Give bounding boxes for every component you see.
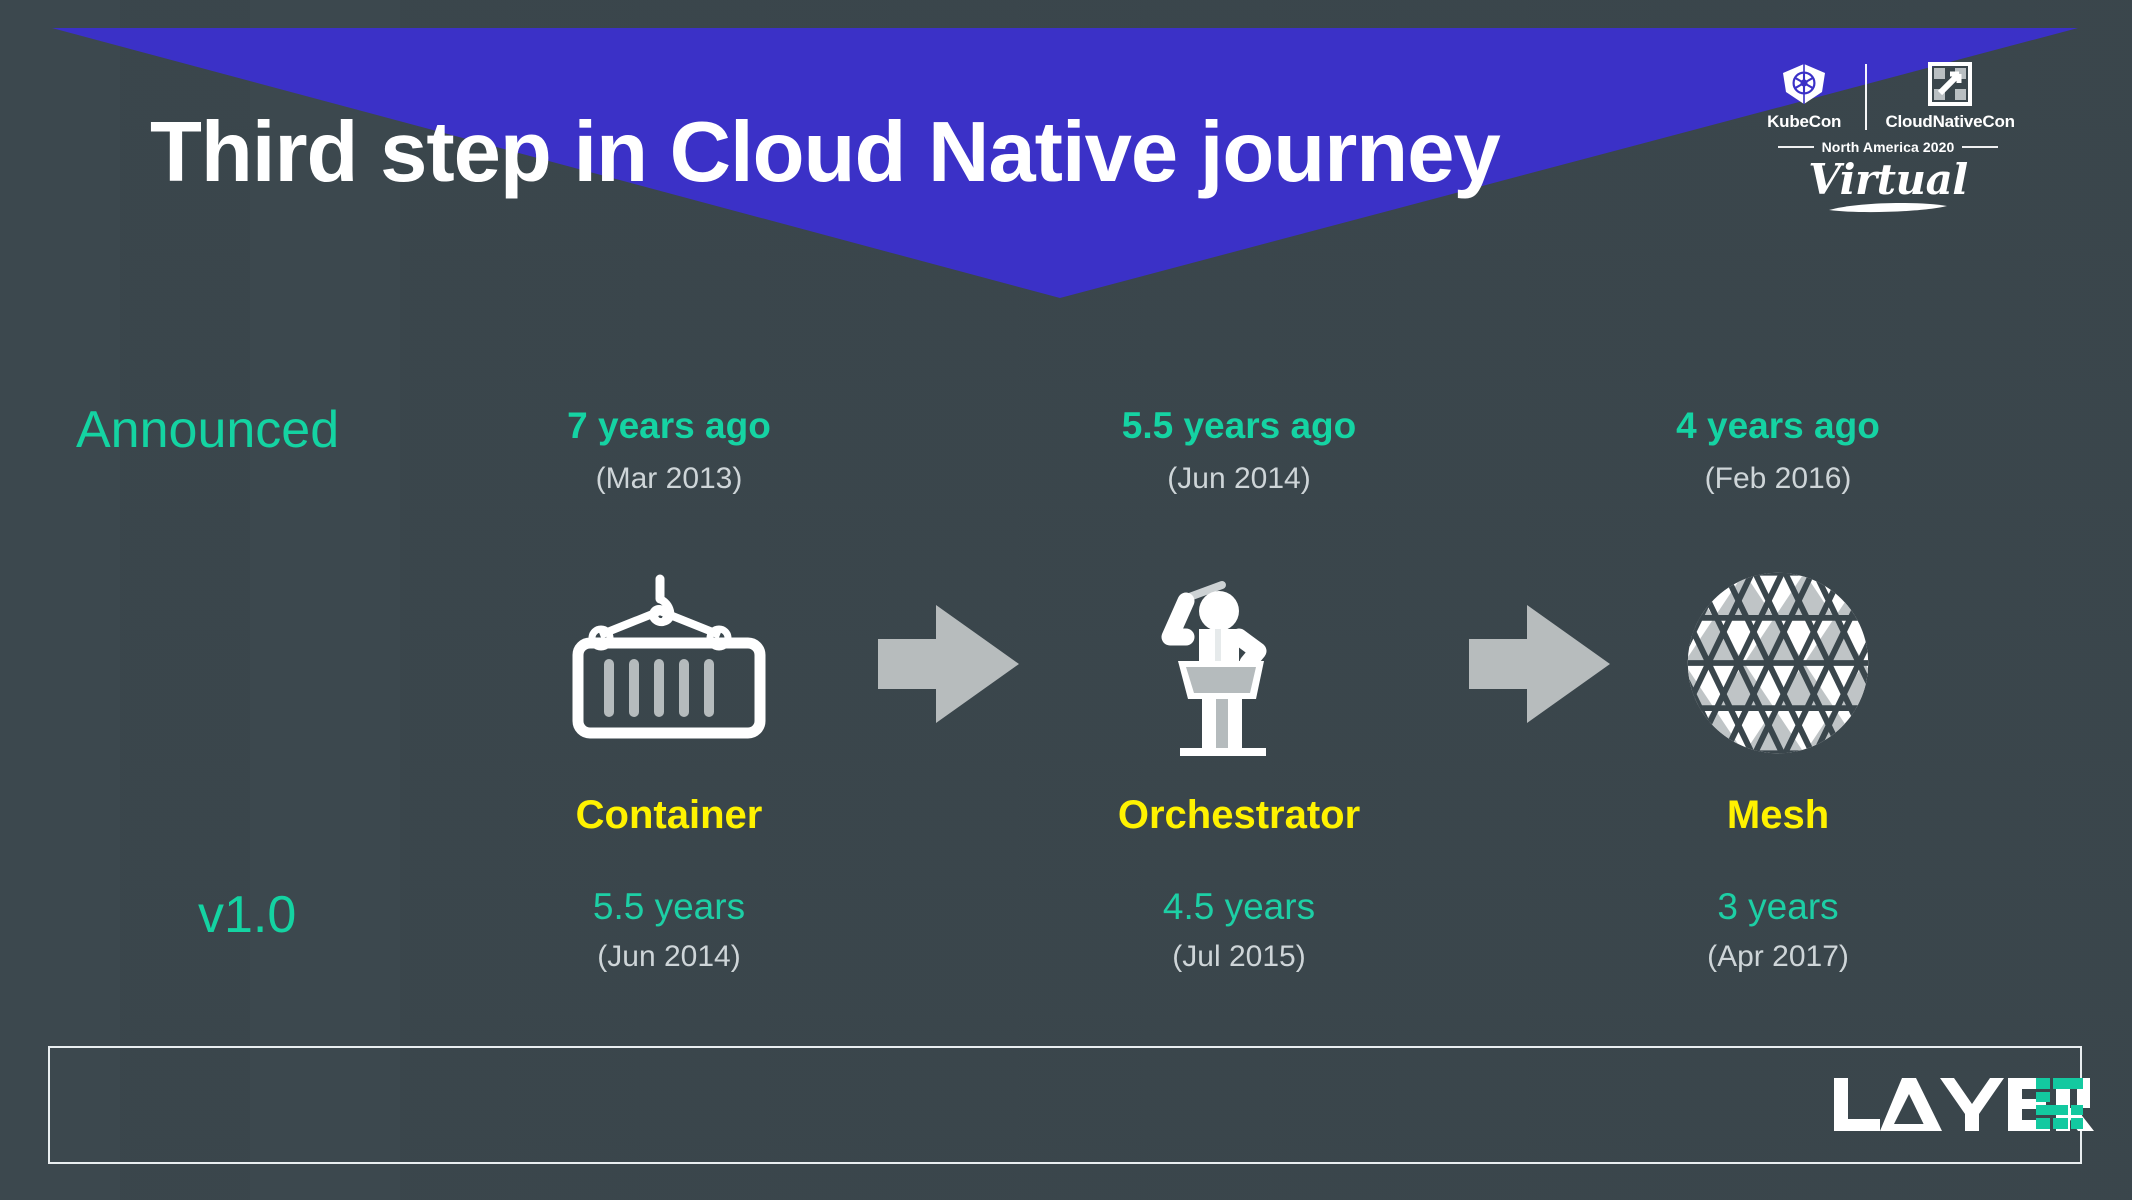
- footer-frame: [48, 1046, 2082, 1164]
- v1-age-orchestrator: 4.5 years: [1074, 886, 1404, 928]
- swoosh-underline-icon: [1752, 199, 2024, 215]
- v1-date-mesh: (Apr 2017): [1613, 940, 1943, 974]
- stage-name-orchestrator: Orchestrator: [1074, 793, 1404, 838]
- announced-date-mesh: (Feb 2016): [1613, 462, 1943, 496]
- conductor-podium-icon: [1144, 571, 1334, 756]
- v1-age-container: 5.5 years: [504, 886, 834, 928]
- kubecon-label: KubeCon: [1767, 112, 1841, 132]
- announced-date-container: (Mar 2013): [504, 462, 834, 496]
- announced-ago-orchestrator: 5.5 years ago: [1074, 405, 1404, 447]
- rule-right: [1962, 146, 1998, 148]
- kubernetes-helm-icon: [1777, 61, 1831, 107]
- rule-left: [1778, 146, 1814, 148]
- page-title: Third step in Cloud Native journey: [150, 108, 1500, 197]
- arrow-container-to-orchestrator: [876, 605, 1021, 723]
- stage-name-container: Container: [504, 793, 834, 838]
- announced-date-orchestrator: (Jun 2014): [1074, 462, 1404, 496]
- layer5-logo: [1832, 1073, 2094, 1135]
- mesh-circle-icon: [1684, 569, 1872, 757]
- arrow-orchestrator-to-mesh: [1467, 605, 1612, 723]
- v1-date-orchestrator: (Jul 2015): [1074, 940, 1404, 974]
- slide-canvas: Third step in Cloud Native journey: [0, 0, 2132, 1200]
- announced-ago-container: 7 years ago: [504, 405, 834, 447]
- version-row-label: v1.0: [198, 885, 296, 945]
- announced-row-label: Announced: [76, 400, 339, 460]
- stage-icon-mesh: [1613, 568, 1943, 758]
- cloudnativecon-icon: [1928, 61, 1972, 107]
- v1-age-mesh: 3 years: [1613, 886, 1943, 928]
- v1-date-container: (Jun 2014): [504, 940, 834, 974]
- virtual-label: Virtual: [1752, 159, 2024, 201]
- logo-divider: [1865, 64, 1867, 130]
- cloudnativecon-label: CloudNativeCon: [1885, 112, 2014, 132]
- conference-logo: KubeCon CloudNativeCon: [1752, 58, 2024, 248]
- announced-ago-mesh: 4 years ago: [1613, 405, 1943, 447]
- stage-name-mesh: Mesh: [1613, 793, 1943, 838]
- shipping-container-icon: [564, 573, 774, 753]
- stage-icon-container: [504, 568, 834, 758]
- region-year-label: North America 2020: [1822, 139, 1955, 155]
- stage-icon-orchestrator: [1074, 568, 1404, 758]
